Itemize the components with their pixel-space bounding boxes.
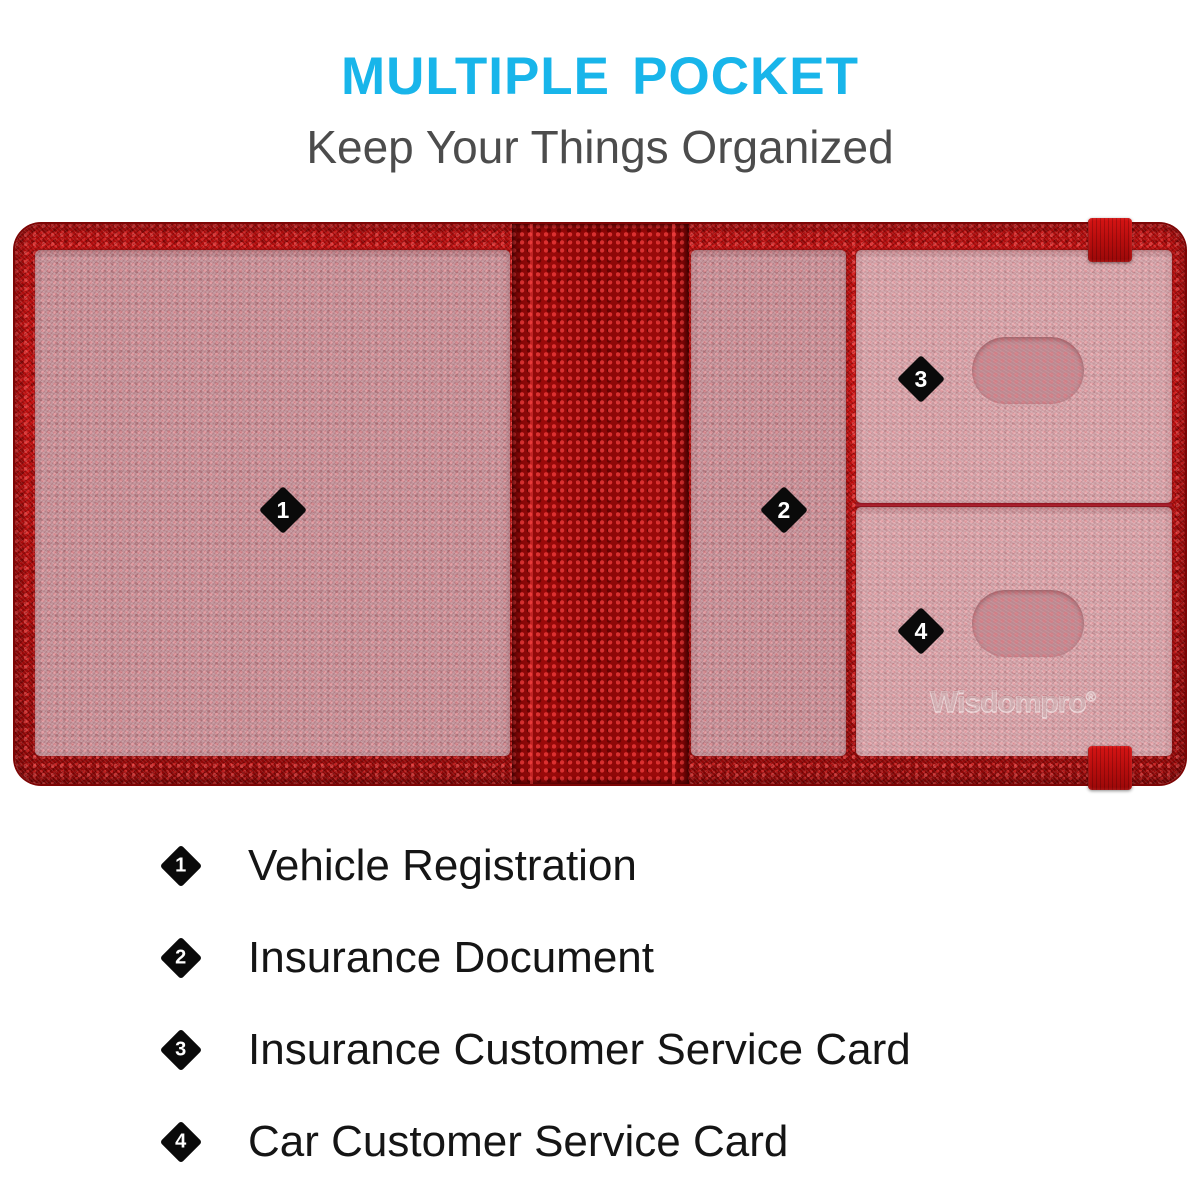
registered-mark: ® — [1086, 688, 1095, 704]
pin-4-number: 4 — [915, 619, 928, 642]
pin-3-number: 3 — [915, 367, 928, 390]
page-title: Multiple Pocket — [0, 0, 1200, 112]
legend-number-1: 1 — [175, 856, 186, 876]
spine-crease-left — [530, 224, 533, 784]
legend-item-2: 2 Insurance Document — [166, 912, 1166, 1004]
diamond-badge-4: 4 — [897, 607, 945, 655]
pin-4: 4 — [904, 614, 938, 648]
thumb-cutout-lower — [972, 590, 1084, 657]
pin-1-number: 1 — [277, 498, 290, 521]
thumb-cutout-upper — [972, 337, 1084, 404]
legend-label-2: Insurance Document — [248, 933, 654, 983]
diamond-badge-2: 2 — [760, 486, 808, 534]
spine-crease-right — [672, 224, 675, 784]
product-image: Wisdompro® 1 2 3 4 — [15, 224, 1185, 784]
elastic-strap-bottom-icon — [1088, 746, 1132, 790]
legend-item-4: 4 Car Customer Service Card — [166, 1096, 1166, 1188]
brand-watermark-text: Wisdompro — [930, 686, 1086, 719]
elastic-strap-top-icon — [1088, 218, 1132, 262]
pin-1: 1 — [266, 493, 300, 527]
legend-label-1: Vehicle Registration — [248, 841, 637, 891]
legend-diamond-4: 4 — [160, 1121, 202, 1163]
legend-label-3: Insurance Customer Service Card — [248, 1025, 911, 1075]
page-subtitle: Keep Your Things Organized — [0, 120, 1200, 174]
pin-2-number: 2 — [778, 498, 791, 521]
product-feature-graphic: Multiple Pocket Keep Your Things Organiz… — [0, 0, 1200, 1200]
pin-2: 2 — [767, 493, 801, 527]
diamond-badge-3: 3 — [897, 355, 945, 403]
brand-watermark: Wisdompro® — [930, 686, 1095, 720]
legend-diamond-2: 2 — [160, 937, 202, 979]
legend-number-2: 2 — [175, 948, 186, 968]
spine-fold-panel — [512, 224, 689, 784]
pin-3: 3 — [904, 362, 938, 396]
legend-label-4: Car Customer Service Card — [248, 1117, 788, 1167]
legend-diamond-1: 1 — [160, 845, 202, 887]
legend: 1 Vehicle Registration 2 Insurance Docum… — [166, 820, 1166, 1188]
legend-number-4: 4 — [175, 1132, 186, 1152]
header: Multiple Pocket Keep Your Things Organiz… — [0, 0, 1200, 174]
legend-diamond-3: 3 — [160, 1029, 202, 1071]
legend-number-3: 3 — [175, 1040, 186, 1060]
diamond-badge-1: 1 — [259, 486, 307, 534]
legend-item-3: 3 Insurance Customer Service Card — [166, 1004, 1166, 1096]
legend-item-1: 1 Vehicle Registration — [166, 820, 1166, 912]
